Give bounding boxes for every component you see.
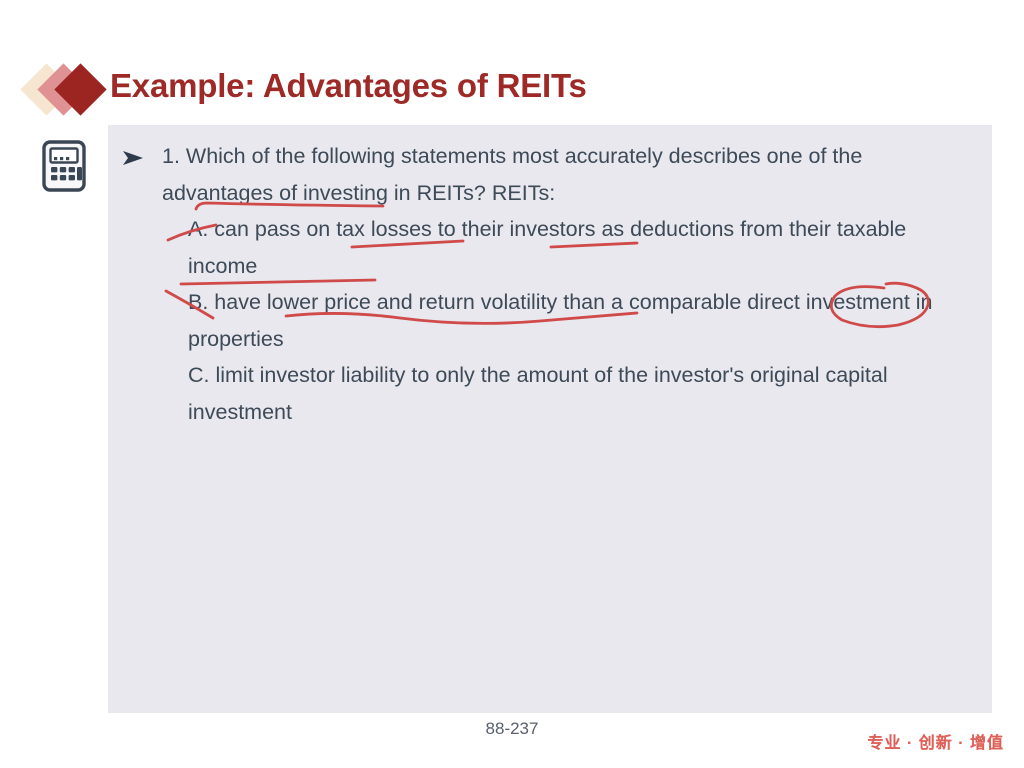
arrow-bullet-icon xyxy=(121,147,147,169)
option-c: C. limit investor liability to only the … xyxy=(162,357,962,430)
brand-tagline: 专业 · 创新 · 增值 xyxy=(868,729,1004,753)
question-block: 1. Which of the following statements mos… xyxy=(162,138,962,430)
slide-canvas: Example: Advantages of REITs 1. Which of xyxy=(0,0,1024,768)
calculator-icon xyxy=(40,140,88,192)
option-b: B. have lower price and return volatilit… xyxy=(162,284,962,357)
title-row: Example: Advantages of REITs xyxy=(0,58,1024,120)
content-panel: 1. Which of the following statements mos… xyxy=(108,125,992,713)
page-title: Example: Advantages of REITs xyxy=(110,58,587,114)
option-a: A. can pass on tax losses to their inves… xyxy=(162,211,962,284)
three-diamonds-logo-icon xyxy=(28,62,112,116)
question-stem: 1. Which of the following statements mos… xyxy=(162,138,962,211)
